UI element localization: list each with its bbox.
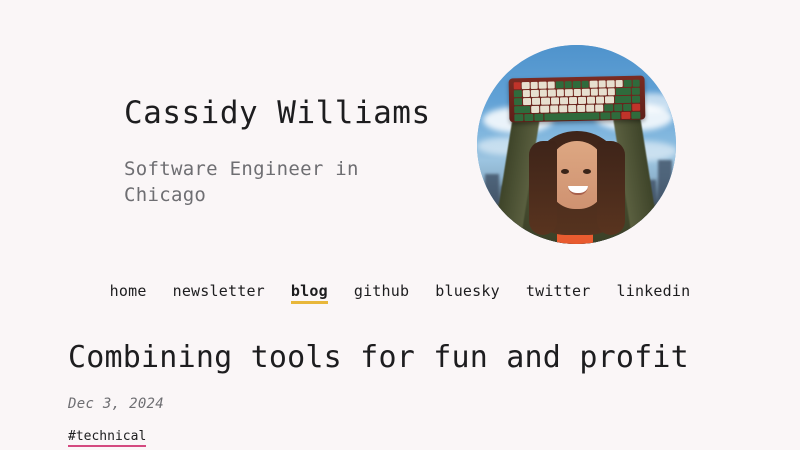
hair-strand-left [529,141,557,235]
site-identity: Cassidy Williams Software Engineer in Ch… [124,96,464,208]
main-nav: home newsletter blog github bluesky twit… [0,282,800,304]
nav-item-blog[interactable]: blog [291,282,328,304]
avatar [477,45,676,244]
nav-item-twitter[interactable]: twitter [526,282,591,300]
site-name: Cassidy Williams [124,96,464,132]
post-header: Combining tools for fun and profit Dec 3… [68,340,768,444]
site-tagline: Software Engineer in Chicago [124,156,414,208]
post-date: Dec 3, 2024 [68,396,768,412]
profile-photo [477,45,676,244]
nav-item-newsletter[interactable]: newsletter [173,282,265,300]
nav-item-github[interactable]: github [354,282,409,300]
nav-item-home[interactable]: home [110,282,147,300]
nav-item-linkedin[interactable]: linkedin [616,282,690,300]
post-title: Combining tools for fun and profit [68,340,768,376]
site-header: Cassidy Williams Software Engineer in Ch… [0,0,800,258]
hair-strand-right [597,141,625,235]
post-tag-technical[interactable]: #technical [68,429,146,447]
mechanical-keyboard [509,76,646,123]
post-tag-list: #technical [68,425,768,444]
nav-item-bluesky[interactable]: bluesky [435,282,500,300]
